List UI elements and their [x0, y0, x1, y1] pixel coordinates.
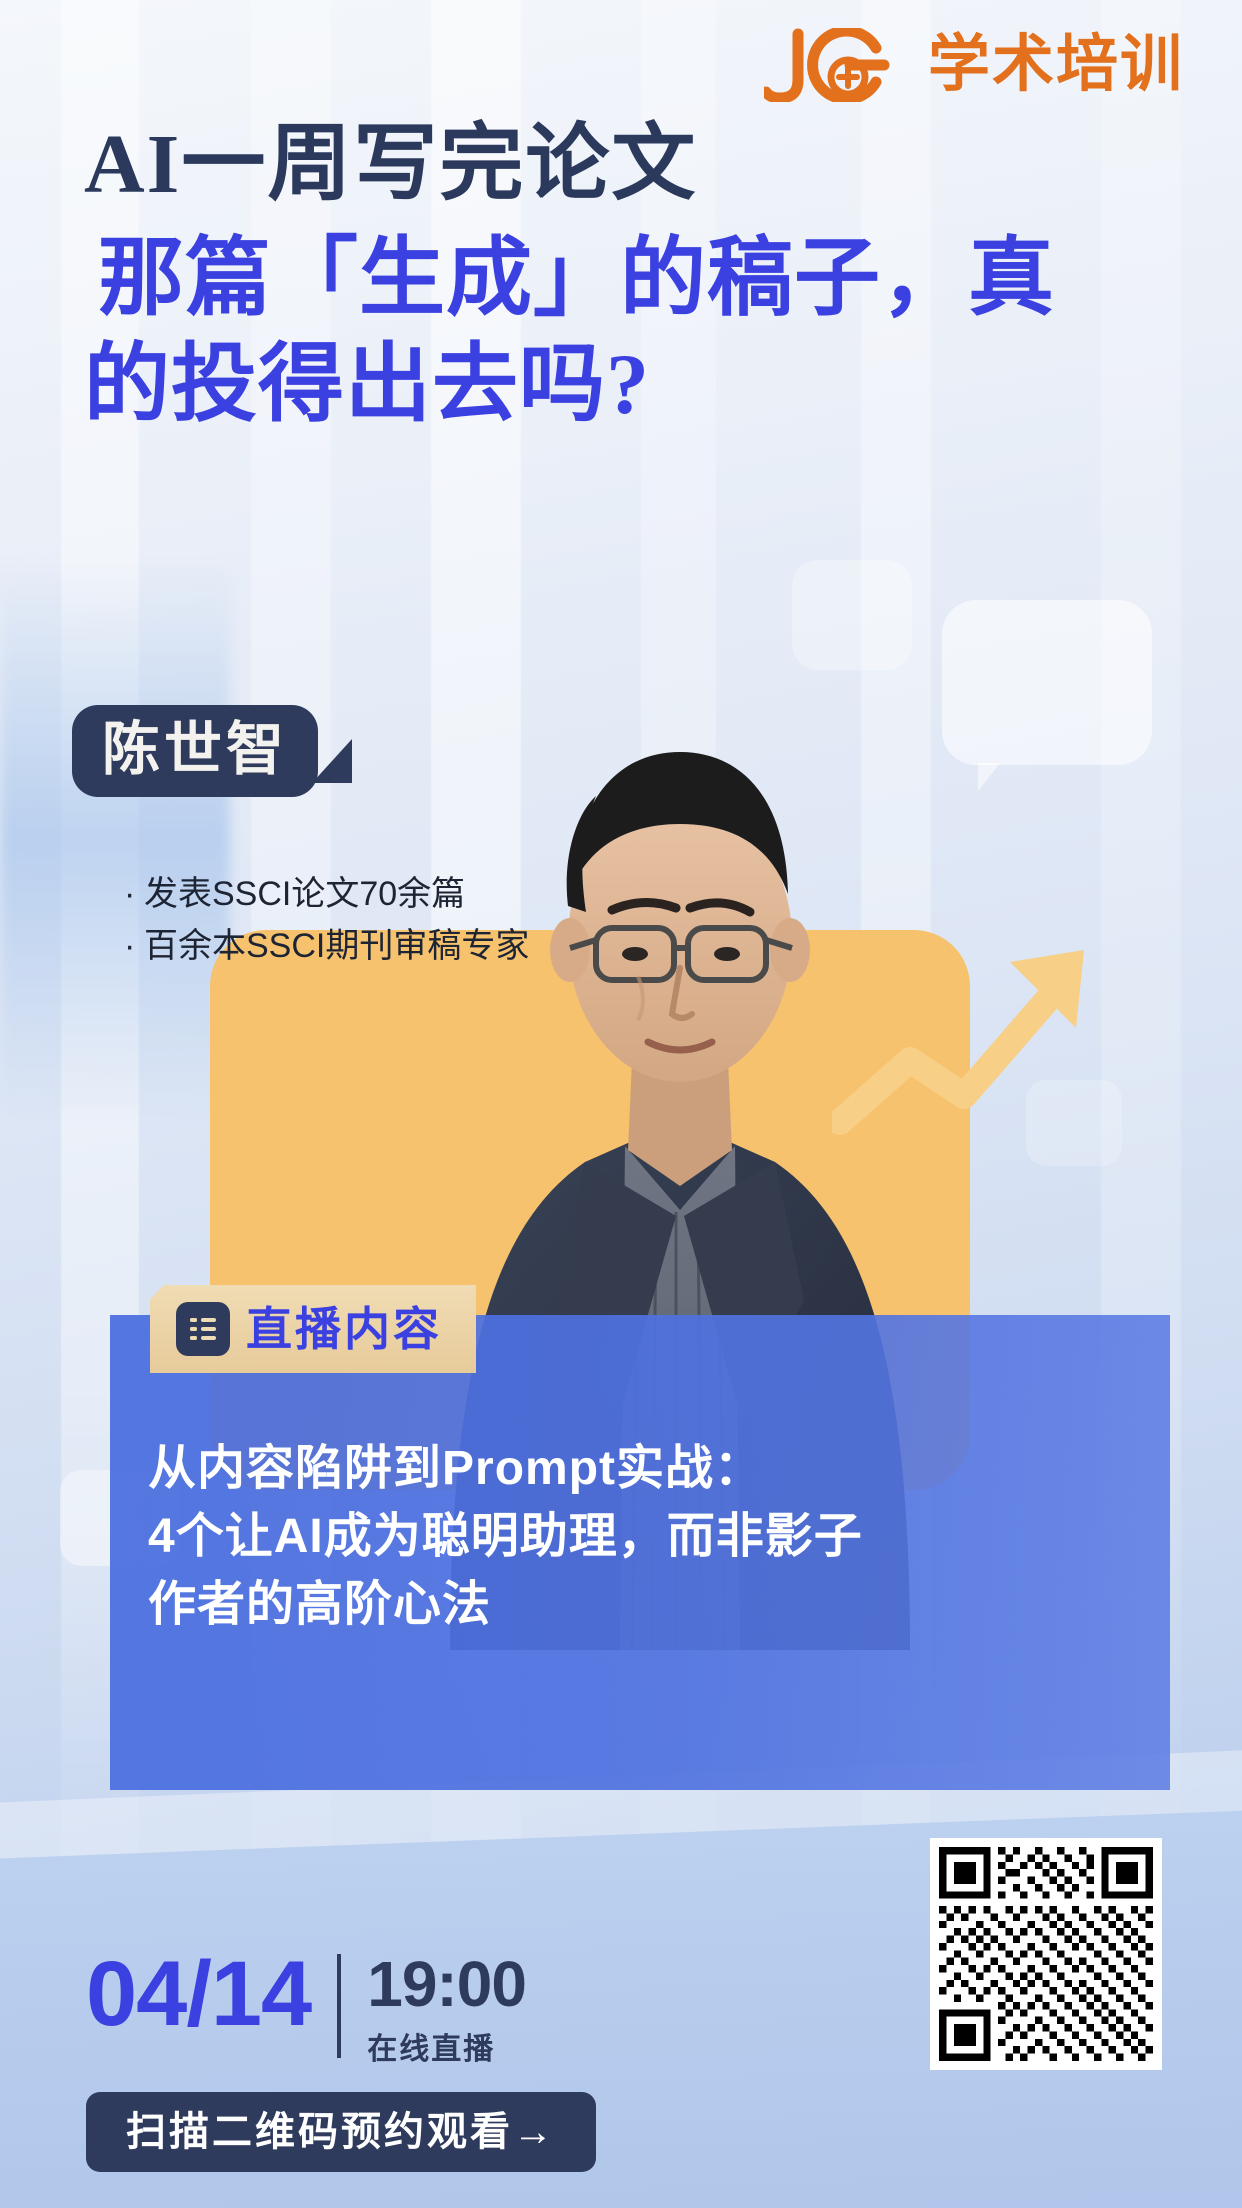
qr-code-icon[interactable] — [930, 1838, 1162, 2070]
topic-line-3: 作者的高阶心法 — [148, 1571, 1140, 1639]
live-content-label: 直播内容 — [246, 1306, 442, 1352]
topic-text: 从内容陷阱到Prompt实战： 4个让AI成为聪明助理，而非影子 作者的高阶心法 — [148, 1435, 1140, 1639]
bullet-dot-icon: · — [124, 921, 144, 973]
bullet-dot-icon: · — [124, 869, 144, 921]
live-content-panel: 直播内容 从内容陷阱到Prompt实战： 4个让AI成为聪明助理，而非影子 作者… — [110, 1315, 1170, 1790]
broadcast-time: 19:00 — [367, 1952, 526, 2016]
brand-logo: 学术培训 — [764, 28, 1184, 102]
headline-line-2: 那篇「生成」的稿子，真 — [84, 228, 1174, 329]
background-left-wash — [0, 560, 230, 1120]
speaker-name-badge: 陈世智 — [72, 705, 318, 797]
scan-qr-cta-button[interactable]: 扫描二维码预约观看→ — [86, 2092, 596, 2172]
time-block: 19:00 在线直播 — [367, 1952, 526, 2068]
live-stream-promo-poster: 学术培训 AI一周写完论文 那篇「生成」的稿子，真 的投得出去吗? 陈世智 ·发… — [0, 0, 1242, 2208]
credential-item: ·百余本SSCI期刊审稿专家 — [124, 921, 529, 973]
brand-word: 学术培训 — [928, 34, 1184, 96]
live-label: 在线直播 — [367, 2024, 526, 2068]
topic-line-2: 4个让AI成为聪明助理，而非影子 — [148, 1503, 1140, 1571]
speaker-credentials: ·发表SSCI论文70余篇 ·百余本SSCI期刊审稿专家 — [84, 869, 529, 972]
credential-text: 百余本SSCI期刊审稿专家 — [144, 927, 529, 965]
headline-block: AI一周写完论文 那篇「生成」的稿子，真 的投得出去吗? — [84, 118, 1174, 435]
broadcast-date: 04/14 — [86, 1952, 311, 2037]
schedule-block: 04/14 19:00 在线直播 — [86, 1952, 526, 2068]
jg-plus-logo-icon — [764, 28, 914, 102]
topic-line-1: 从内容陷阱到Prompt实战： — [148, 1435, 1140, 1503]
credential-item: ·发表SSCI论文70余篇 — [124, 869, 529, 921]
list-lines-icon — [176, 1302, 230, 1356]
headline-line-1: AI一周写完论文 — [84, 118, 1174, 212]
live-content-ribbon: 直播内容 — [150, 1285, 476, 1373]
headline-line-3: 的投得出去吗? — [84, 334, 1174, 435]
credential-text: 发表SSCI论文70余篇 — [144, 875, 465, 913]
divider — [337, 1954, 341, 2058]
